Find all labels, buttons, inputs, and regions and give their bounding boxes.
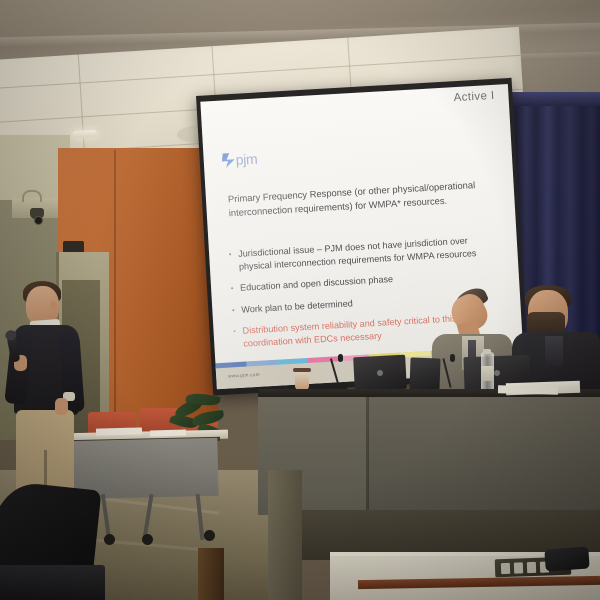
table-caster: [142, 534, 153, 545]
coffee-cup-lid: [293, 368, 311, 372]
slide-title: Active I: [453, 90, 495, 104]
paper-stack: [150, 430, 186, 437]
table-microphone-head: [450, 354, 455, 362]
pjm-wordmark: pjm: [235, 151, 258, 168]
speaker-ear: [50, 301, 57, 310]
panelist-right-shirt: [545, 336, 563, 366]
speaker-hand: [55, 398, 68, 415]
phone-key[interactable]: [501, 563, 510, 574]
foreground-equipment-case: [0, 565, 105, 600]
table-microphone-head: [338, 354, 343, 362]
foreground-pillar: [268, 470, 302, 600]
phone-key[interactable]: [514, 562, 523, 573]
wall-corner-edge: [114, 150, 116, 450]
table-caster: [204, 530, 215, 541]
table-skirt-seam: [366, 397, 369, 515]
slide-footer-url: www.pjm.com: [228, 372, 260, 379]
paper-stack: [96, 427, 142, 435]
paper-stack: [498, 385, 558, 395]
curtain-rod-valance: [498, 92, 600, 106]
table-caster: [104, 534, 115, 545]
camera-lens-icon: [34, 216, 43, 225]
pjm-logo: pjm: [221, 151, 258, 169]
laptop[interactable]: [409, 357, 440, 390]
list-item: Jurisdictional issue – PJM does not have…: [227, 233, 500, 274]
laptop-logo-icon: [377, 370, 383, 376]
slide-lead-text: Primary Frequency Response (or other phy…: [228, 177, 491, 220]
panel-table-skirt: [368, 397, 600, 515]
foreground-wood-post: [198, 548, 224, 600]
presentation-scene: Active I pjm Primary Frequency Response …: [0, 0, 600, 600]
desk-phone-handset[interactable]: [544, 546, 589, 571]
phone-key[interactable]: [527, 562, 536, 573]
laptop[interactable]: [353, 355, 407, 392]
coffee-cup: [295, 370, 309, 390]
pjm-swoosh-icon: [221, 152, 235, 168]
camera-cable: [22, 190, 42, 202]
